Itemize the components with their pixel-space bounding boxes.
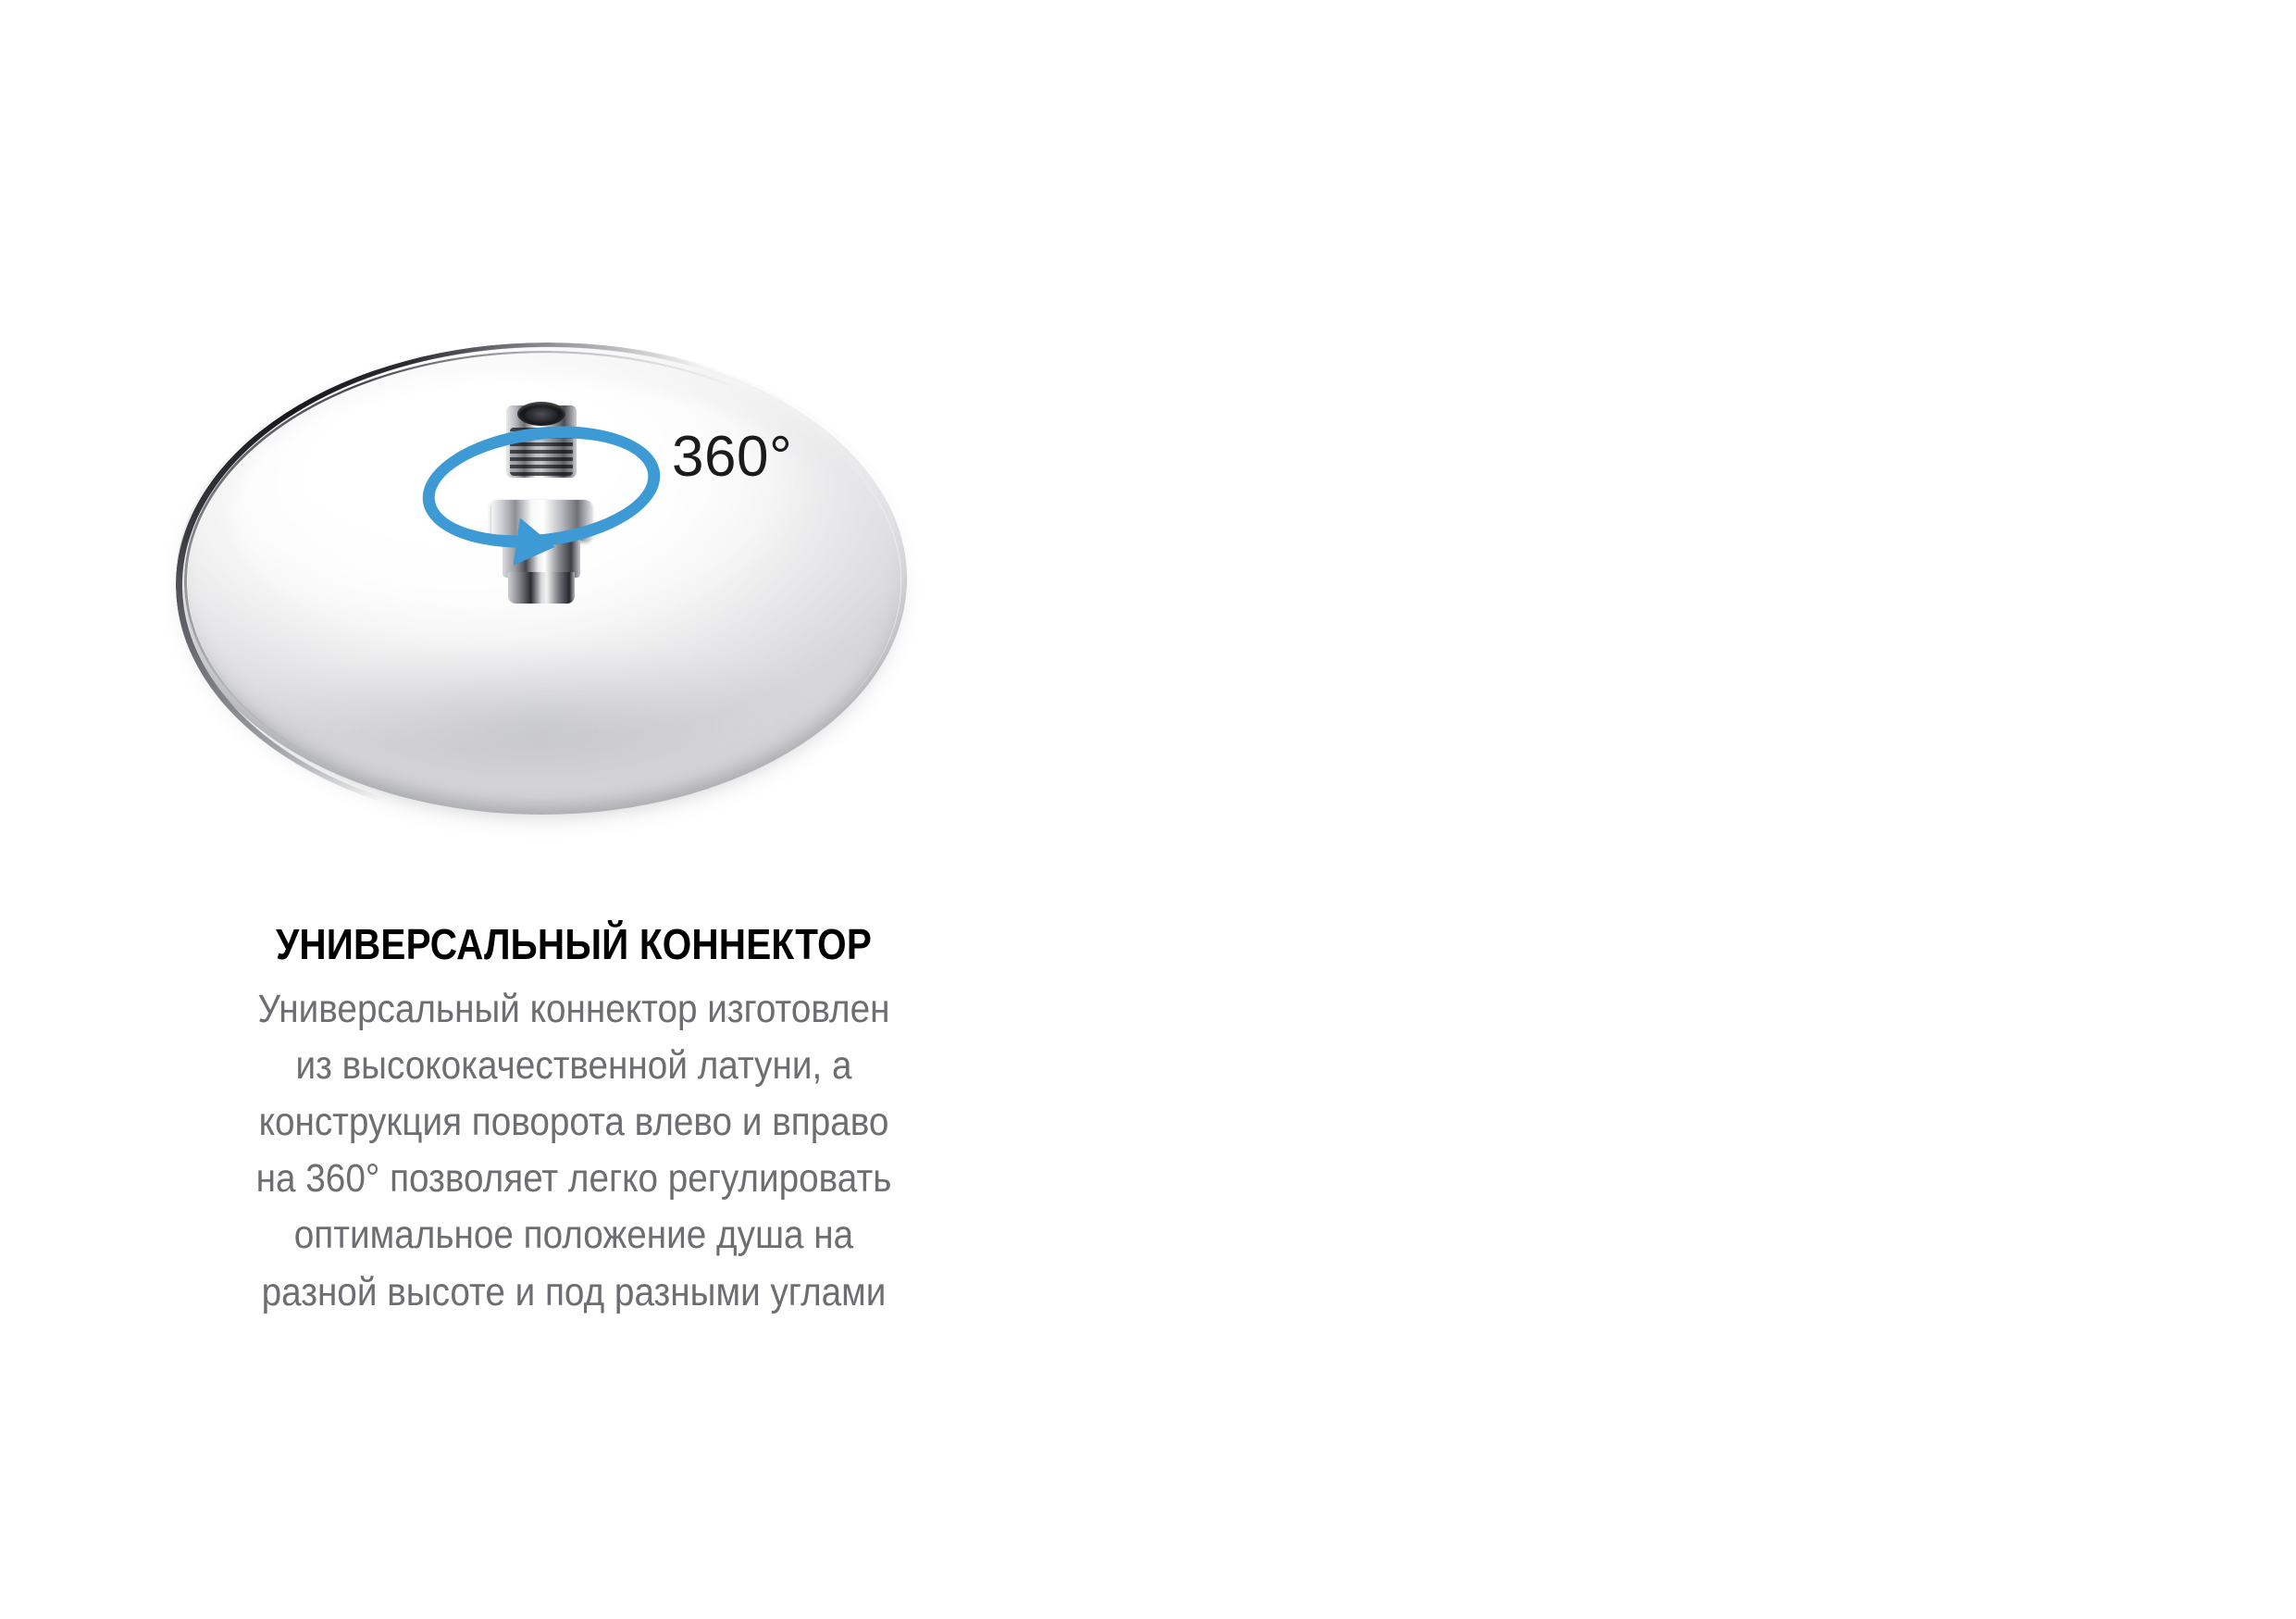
body-line: конструкция поворота влево и вправо — [157, 1094, 990, 1151]
rotation-arrow-icon — [514, 517, 559, 570]
panel-air-injection: ВОЗДУХ ВОЗДУХ — [1148, 0, 2296, 1619]
body-line: на 360° позволяет легко регулировать — [157, 1151, 990, 1207]
panel-body-universal-connector: Универсальный коннектор изготовлен из вы… — [157, 981, 990, 1320]
body-line: Универсальный коннектор изготовлен — [157, 981, 990, 1038]
body-line: разной высоте и под разными углами — [157, 1264, 990, 1321]
connector-bore-inner — [525, 407, 558, 423]
infographic-page: 360° УНИВЕРСАЛЬНЫЙ КОННЕКТОР Универсальн… — [0, 0, 2296, 1619]
body-line: из высококачественной латуни, а — [157, 1038, 990, 1094]
body-line: оптимальное положение душа на — [157, 1207, 990, 1264]
panel-universal-connector: 360° УНИВЕРСАЛЬНЫЙ КОННЕКТОР Универсальн… — [0, 0, 1148, 1619]
disc-shading — [255, 648, 811, 787]
panel-title-universal-connector: УНИВЕРСАЛЬНЫЙ КОННЕКТОР — [167, 922, 981, 966]
connector-base — [508, 572, 575, 604]
shower-head-disc-figure: 360° — [176, 342, 907, 824]
rotation-degree-badge: 360° — [672, 424, 792, 490]
caption-universal-connector: УНИВЕРСАЛЬНЫЙ КОННЕКТОР Универсальный ко… — [111, 922, 1036, 1321]
